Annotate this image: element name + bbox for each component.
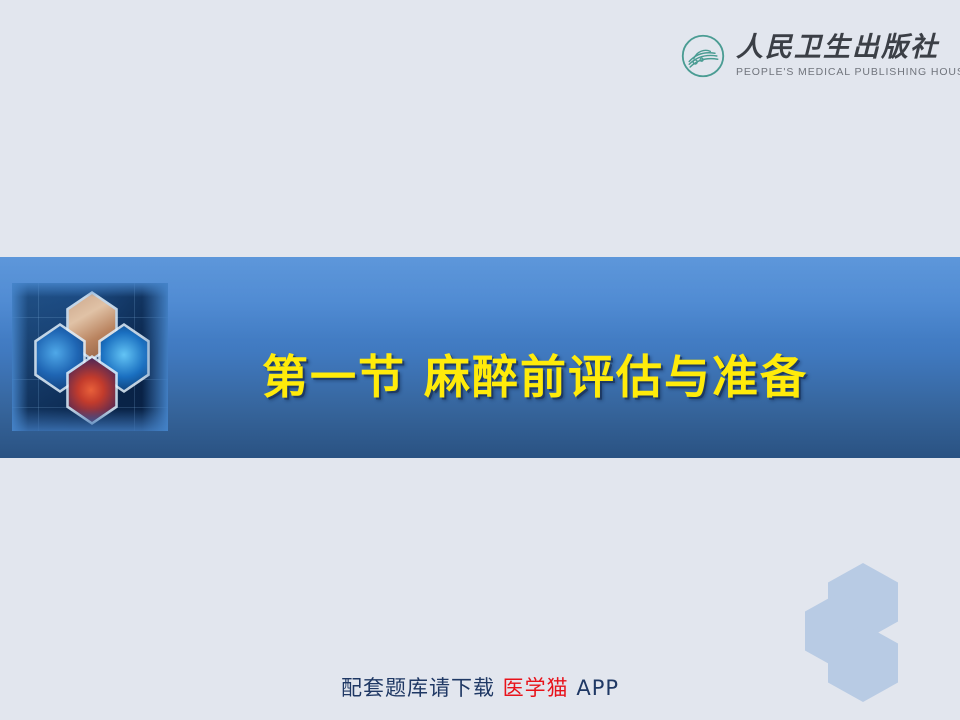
footer-note: 配套题库请下载 医学猫 APP: [0, 672, 960, 702]
publisher-chinese-name: 人民卫生出版社: [736, 34, 960, 62]
publisher-english-name: PEOPLE'S MEDICAL PUBLISHING HOUSE: [736, 65, 960, 80]
medical-hexagon-collage-image: [12, 283, 168, 431]
collage-edge-fade-left: [12, 283, 28, 431]
publisher-logo: 人民卫生出版社 PEOPLE'S MEDICAL PUBLISHING HOUS…: [680, 26, 920, 86]
pmph-circular-wave-logo-icon: [680, 33, 726, 79]
footer-suffix: APP: [569, 676, 619, 700]
presentation-slide: 人民卫生出版社 PEOPLE'S MEDICAL PUBLISHING HOUS…: [0, 0, 960, 720]
slide-title: 第一节 麻醉前评估与准备: [185, 341, 885, 407]
publisher-logo-text: 人民卫生出版社 PEOPLE'S MEDICAL PUBLISHING HOUS…: [736, 32, 960, 79]
collage-edge-fade-right: [142, 283, 168, 431]
footer-prefix: 配套题库请下载: [341, 676, 503, 700]
footer-brand: 医学猫: [503, 676, 569, 700]
